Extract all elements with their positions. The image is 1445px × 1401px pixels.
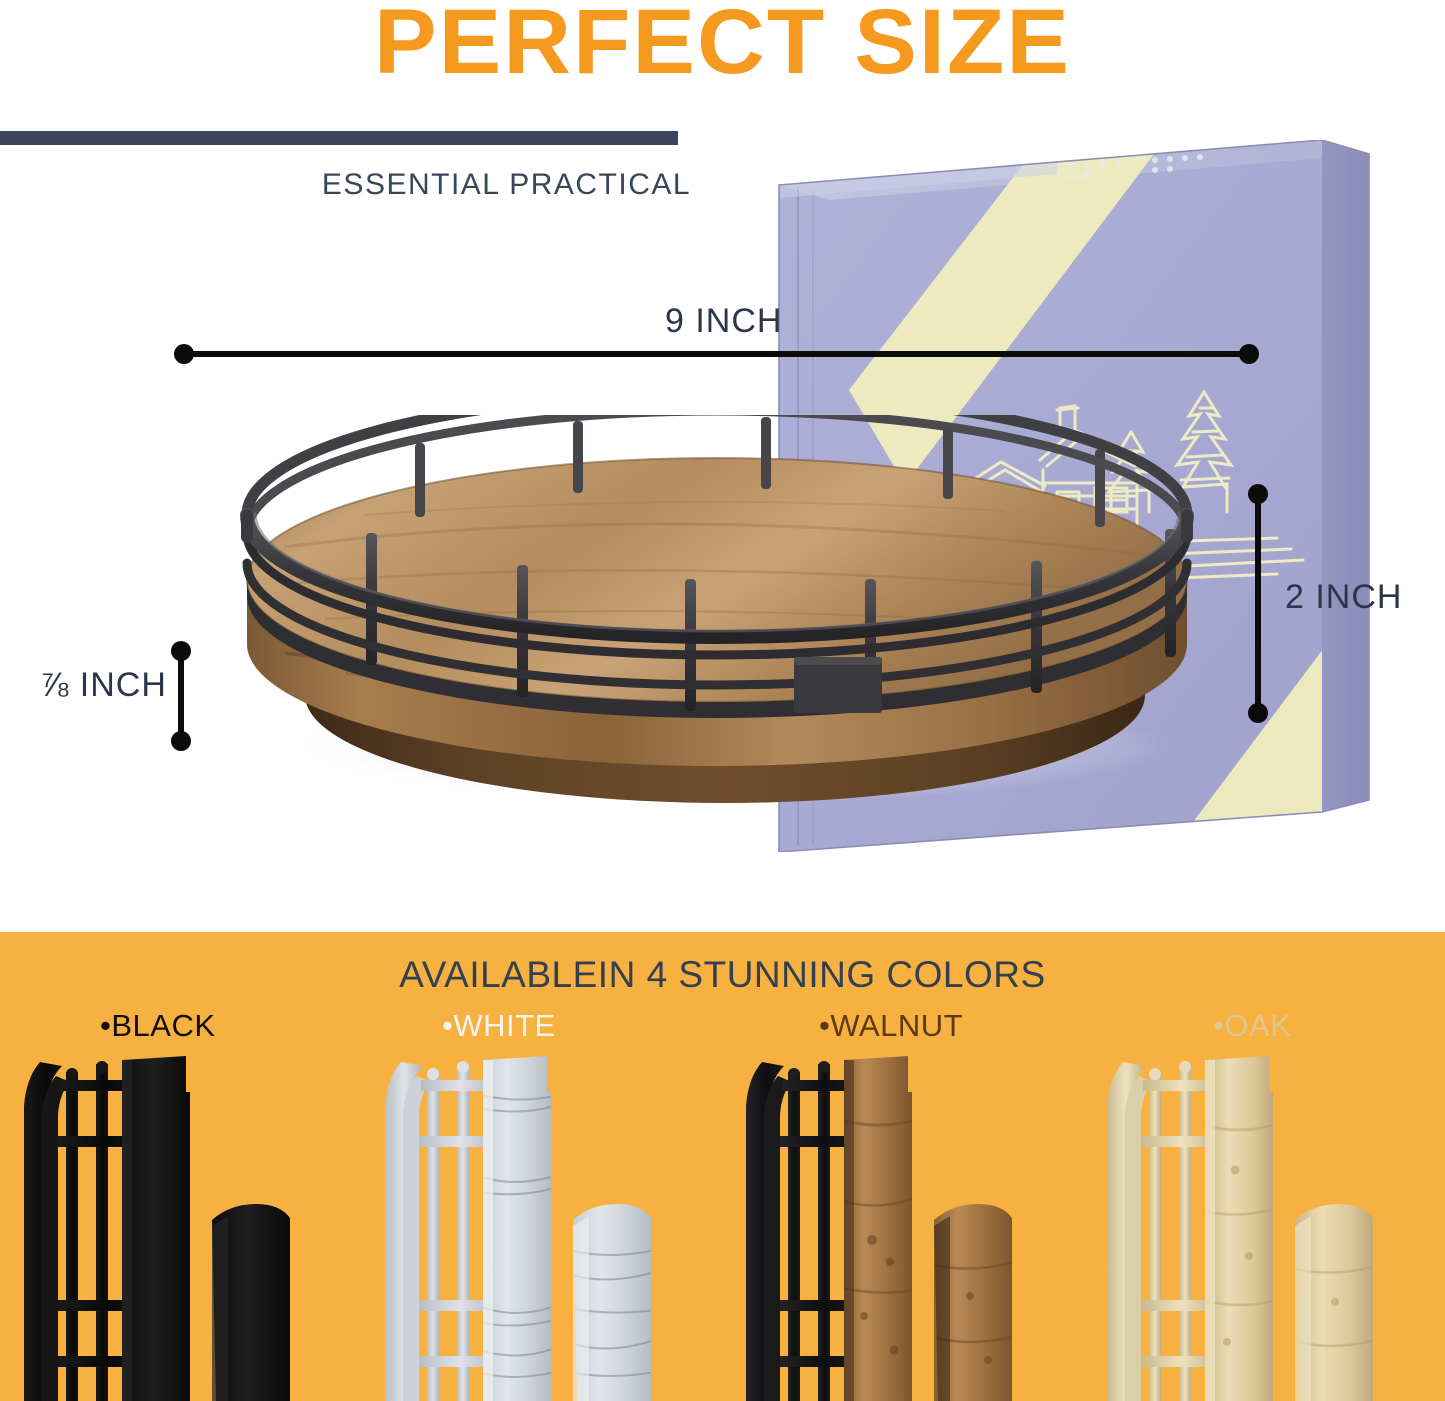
colors-section: AVAILABLEIN 4 STUNNING COLORS •BLACK [0, 932, 1445, 1401]
dimension-endpoint-bottom [1248, 703, 1268, 723]
color-option-label: •OAK [1213, 1008, 1445, 1044]
title-accent-bar [0, 131, 678, 145]
dimension-endpoint-thickness-top [171, 641, 191, 661]
dimension-label-width: 9 INCH [665, 302, 782, 341]
color-option-image [0, 1050, 361, 1401]
colors-section-heading: AVAILABLEIN 4 STUNNING COLORS [0, 954, 1445, 996]
color-option-oak[interactable]: •OAK [1083, 1008, 1444, 1401]
color-option-white[interactable]: •WHITE [361, 1008, 722, 1401]
dimension-endpoint-top [1248, 484, 1268, 504]
dimension-endpoint-left [174, 344, 194, 364]
dimension-endpoint-thickness-bottom [171, 731, 191, 751]
color-option-image [722, 1050, 1083, 1401]
color-option-black[interactable]: •BLACK [0, 1008, 361, 1401]
color-option-image [361, 1050, 722, 1401]
product-infographic: PERFECT SIZE ESSENTIAL PRACTICAL [0, 0, 1445, 1401]
lazy-susan-product-image [165, 415, 1270, 815]
color-option-walnut[interactable]: •WALNUT [722, 1008, 1083, 1401]
color-option-image [1083, 1050, 1444, 1401]
dimension-line-height [1255, 500, 1261, 712]
dimension-endpoint-right [1239, 344, 1259, 364]
dimension-label-thickness: ⅞ INCH [40, 666, 167, 705]
dimension-label-height: 2 INCH [1285, 578, 1402, 617]
dimension-line-thickness [178, 654, 184, 738]
size-section: PERFECT SIZE ESSENTIAL PRACTICAL [0, 0, 1445, 932]
page-title: PERFECT SIZE [0, 0, 1445, 91]
dimension-line-width [190, 351, 1245, 357]
